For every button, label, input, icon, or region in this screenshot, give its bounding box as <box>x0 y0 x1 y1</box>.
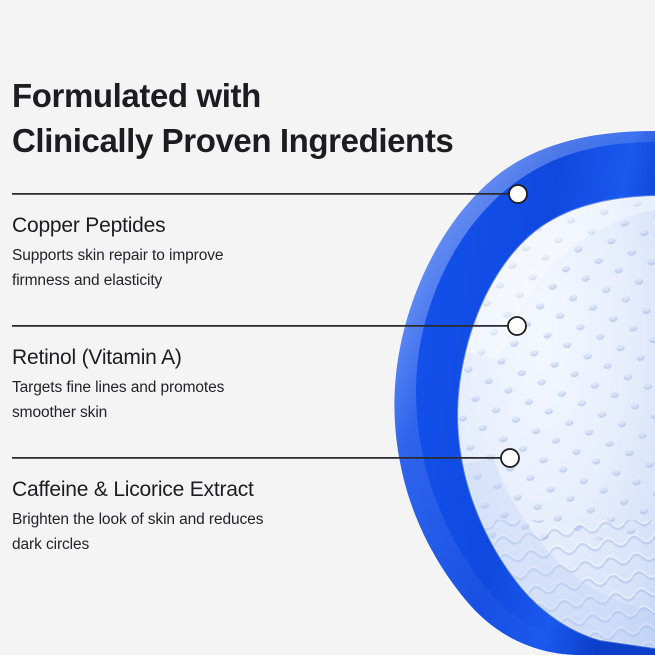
callout-marker-1 <box>509 185 527 203</box>
callout-marker-3 <box>501 449 519 467</box>
callout-marker-2 <box>508 317 526 335</box>
callout-leader-lines <box>0 0 655 655</box>
ingredients-infographic: Formulated with Clinically Proven Ingred… <box>0 0 655 655</box>
